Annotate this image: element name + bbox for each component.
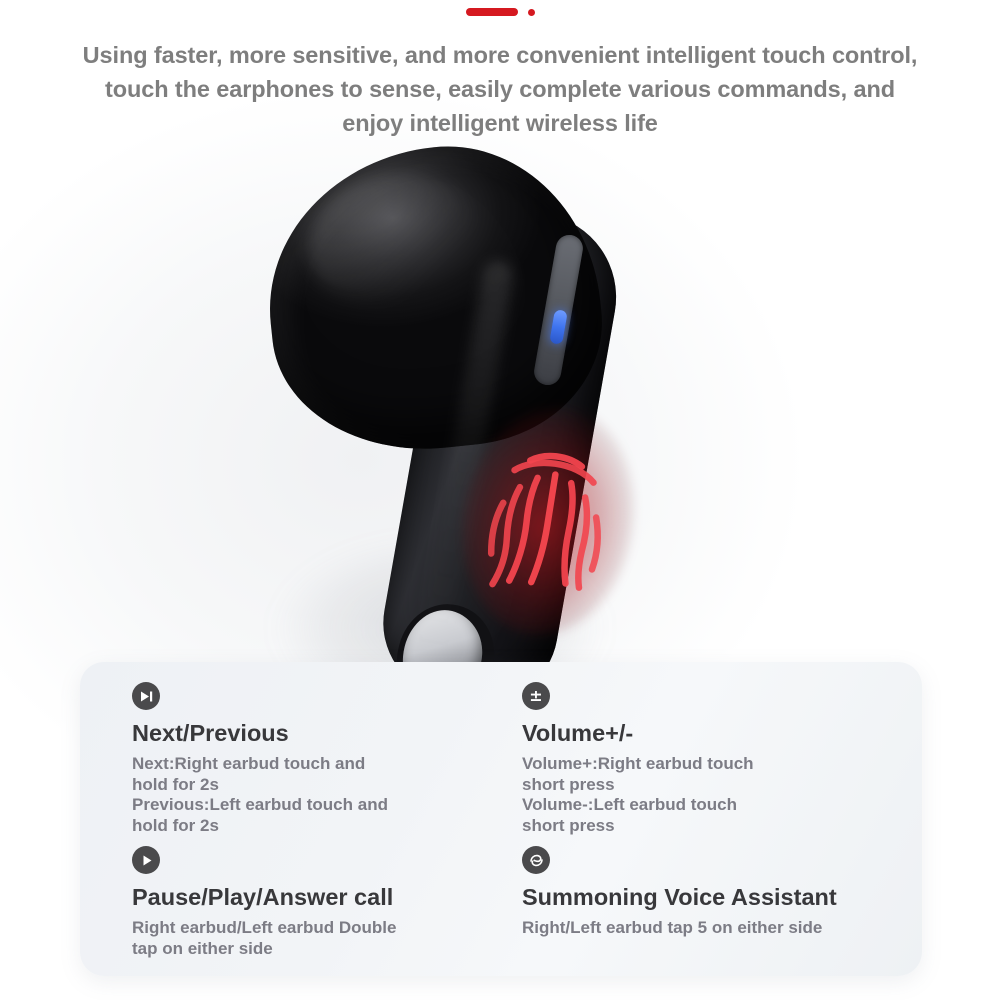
- desc-line: Volume-:Left earbud touch: [522, 795, 842, 816]
- desc-line: hold for 2s: [132, 816, 462, 837]
- desc-line: hold for 2s: [132, 775, 462, 796]
- earbud-illustration: [255, 138, 675, 728]
- red-accent-dot: [528, 9, 535, 16]
- feature-next-previous: Next/Previous Next:Right earbud touch an…: [132, 672, 514, 836]
- feature-description: Right earbud/Left earbud Double tap on e…: [132, 918, 462, 959]
- red-accent-bar: [466, 8, 518, 16]
- headline-text: Using faster, more sensitive, and more c…: [30, 38, 970, 140]
- headline-line-2: touch the earphones to sense, easily com…: [30, 72, 970, 106]
- feature-description: Volume+:Right earbud touch short press V…: [522, 754, 842, 836]
- desc-line: tap on either side: [132, 939, 462, 960]
- feature-description: Right/Left earbud tap 5 on either side: [522, 918, 842, 939]
- feature-title: Summoning Voice Assistant: [522, 883, 904, 911]
- feature-description: Next:Right earbud touch and hold for 2s …: [132, 754, 462, 836]
- touch-control-panel: Next/Previous Next:Right earbud touch an…: [80, 662, 922, 976]
- desc-line: Right/Left earbud tap 5 on either side: [522, 918, 842, 939]
- desc-line: Previous:Left earbud touch and: [132, 795, 462, 816]
- accent-mark: [0, 0, 1000, 22]
- desc-line: Next:Right earbud touch and: [132, 754, 462, 775]
- skip-next-icon: [132, 682, 160, 710]
- feature-title: Next/Previous: [132, 719, 514, 747]
- play-circle-icon: [132, 846, 160, 874]
- desc-line: Right earbud/Left earbud Double: [132, 918, 462, 939]
- feature-pause-play: Pause/Play/Answer call Right earbud/Left…: [132, 836, 514, 962]
- feature-title: Volume+/-: [522, 719, 904, 747]
- plus-minus-icon: ±: [522, 682, 550, 710]
- promo-image-canvas: Using faster, more sensitive, and more c…: [0, 0, 1000, 1000]
- desc-line: short press: [522, 816, 842, 837]
- desc-line: short press: [522, 775, 842, 796]
- desc-line: Volume+:Right earbud touch: [522, 754, 842, 775]
- feature-title: Pause/Play/Answer call: [132, 883, 514, 911]
- headline-line-3: enjoy intelligent wireless life: [30, 106, 970, 140]
- feature-voice-assistant: Summoning Voice Assistant Right/Left ear…: [522, 836, 904, 962]
- headline-line-1: Using faster, more sensitive, and more c…: [30, 38, 970, 72]
- plus-minus-glyph: ±: [529, 688, 542, 704]
- feature-volume: ± Volume+/- Volume+:Right earbud touch s…: [522, 672, 904, 836]
- voice-assistant-icon: [522, 846, 550, 874]
